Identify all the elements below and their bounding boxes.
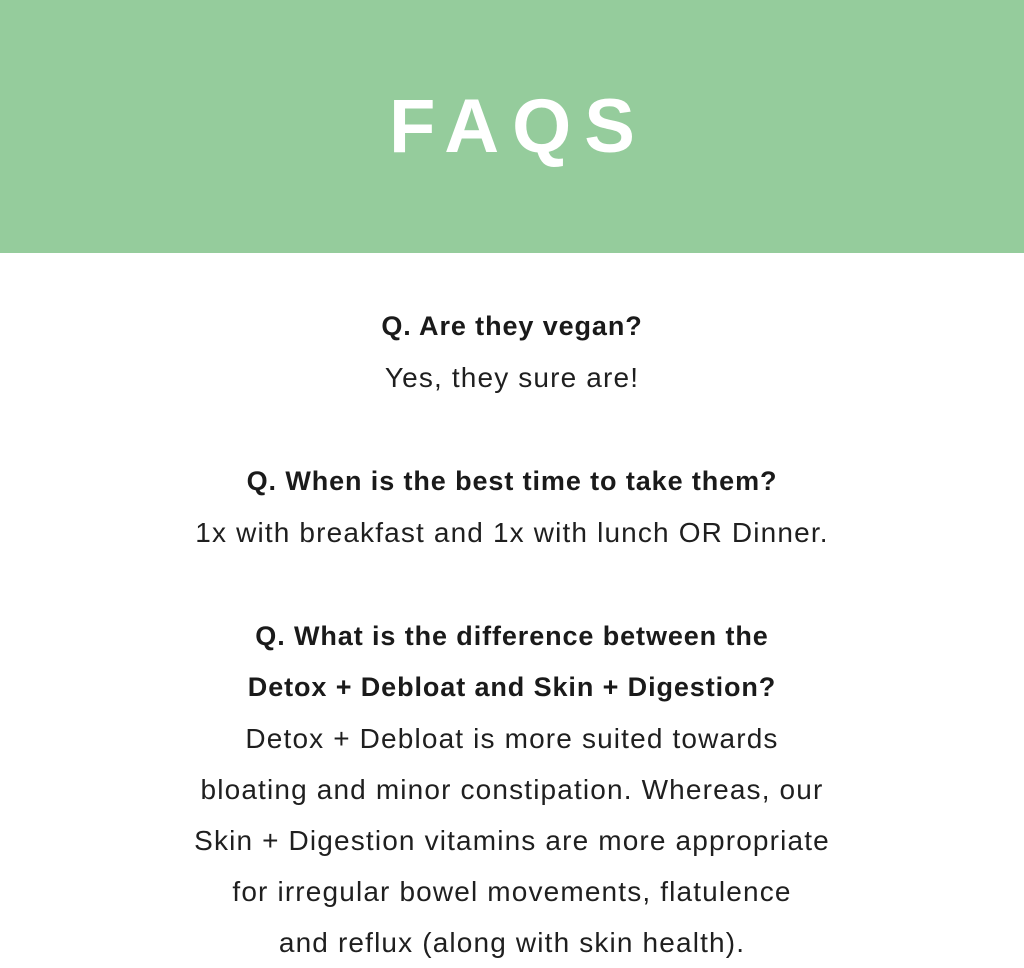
faq-question: Q. What is the difference between theDet… <box>0 611 1024 713</box>
faq-answer-line: and reflux (along with skin health). <box>0 917 1024 968</box>
header-banner: FAQS <box>0 0 1024 253</box>
faq-item: Q. What is the difference between theDet… <box>0 611 1024 968</box>
faq-question-line: Q. What is the difference between the <box>0 611 1024 662</box>
faq-item: Q. When is the best time to take them?1x… <box>0 456 1024 558</box>
faq-question-line: Q. When is the best time to take them? <box>0 456 1024 507</box>
faq-question: Q. Are they vegan? <box>0 301 1024 352</box>
faq-answer: 1x with breakfast and 1x with lunch OR D… <box>0 507 1024 558</box>
faq-question-line: Detox + Debloat and Skin + Digestion? <box>0 662 1024 713</box>
faq-answer-line: bloating and minor constipation. Whereas… <box>0 764 1024 815</box>
faq-answer-line: Skin + Digestion vitamins are more appro… <box>0 815 1024 866</box>
faq-page: FAQS Q. Are they vegan?Yes, they sure ar… <box>0 0 1024 956</box>
faq-answer-line: for irregular bowel movements, flatulenc… <box>0 866 1024 917</box>
faq-answer-line: Detox + Debloat is more suited towards <box>0 713 1024 764</box>
faq-answer-line: 1x with breakfast and 1x with lunch OR D… <box>0 507 1024 558</box>
faq-list: Q. Are they vegan?Yes, they sure are!Q. … <box>0 253 1024 968</box>
faq-question: Q. When is the best time to take them? <box>0 456 1024 507</box>
faq-answer-line: Yes, they sure are! <box>0 352 1024 403</box>
faq-item: Q. Are they vegan?Yes, they sure are! <box>0 301 1024 403</box>
faq-question-line: Q. Are they vegan? <box>0 301 1024 352</box>
page-title: FAQS <box>376 89 648 165</box>
faq-answer: Detox + Debloat is more suited towardsbl… <box>0 713 1024 968</box>
faq-answer: Yes, they sure are! <box>0 352 1024 403</box>
